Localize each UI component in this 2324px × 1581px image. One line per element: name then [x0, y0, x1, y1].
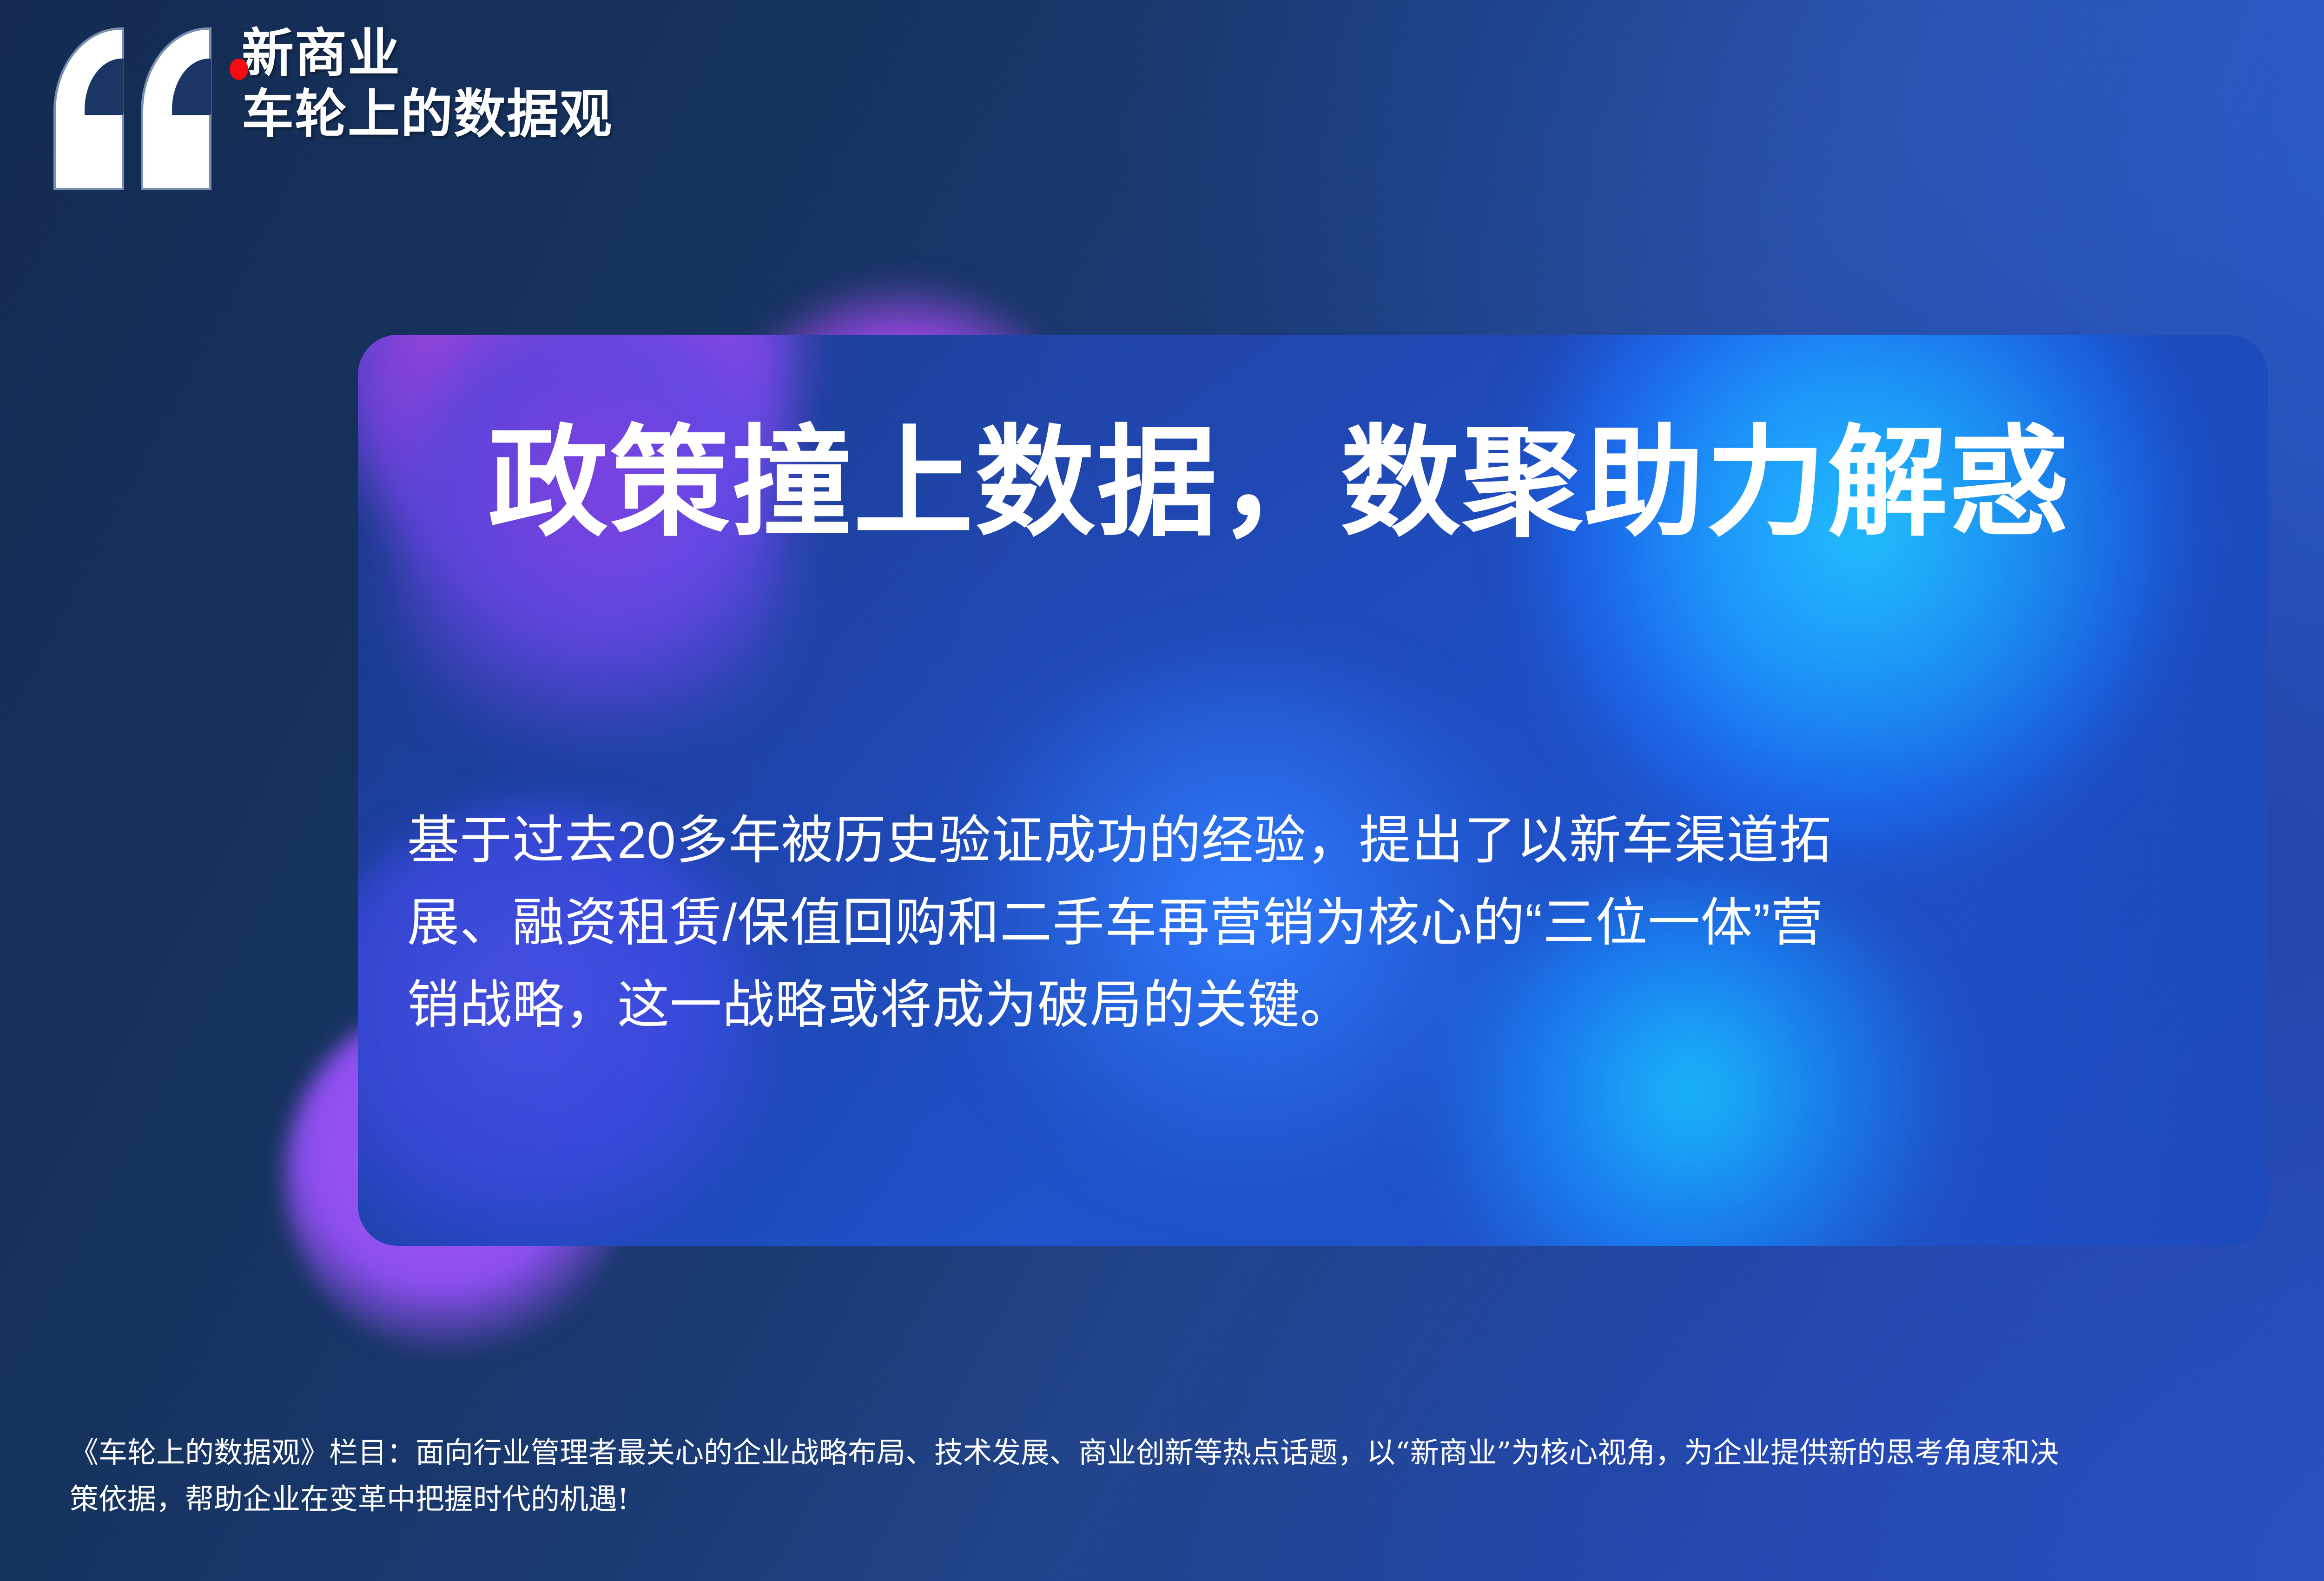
footer-line-1: 《车轮上的数据观》栏目：面向行业管理者最关心的企业战略布局、技术发展、商业创新等… [70, 1429, 2324, 1476]
brand-text: 新商业 车轮上的数据观 [242, 24, 613, 147]
column-title: 车轮上的数据观 [242, 82, 613, 147]
red-dot-icon [230, 59, 248, 80]
brand-logo: 新商业 车轮上的数据观 [56, 21, 613, 188]
brand-name-label: 新商业 [242, 24, 401, 82]
paragraph-line: 销战略，这一战略或将成为破局的关键。 [407, 964, 2238, 1046]
footer-line-2: 策依据，帮助企业在变革中把握时代的机遇! [70, 1476, 2324, 1522]
card-paragraph: 基于过去20多年被历史验证成功的经验，提出了以新车渠道拓 展、融资租赁/保值回购… [407, 800, 2238, 1046]
brand-name: 新商业 [242, 24, 613, 82]
open-quote-icon [56, 30, 209, 188]
footer-note: 《车轮上的数据观》栏目：面向行业管理者最关心的企业战略布局、技术发展、商业创新等… [70, 1429, 2324, 1523]
paragraph-line: 基于过去20多年被历史验证成功的经验，提出了以新车渠道拓 [407, 800, 2238, 882]
page-title: 政策撞上数据，数聚助力解惑 [488, 423, 2071, 543]
paragraph-line: 展、融资租赁/保值回购和二手车再营销为核心的“三位一体”营 [407, 882, 2238, 964]
quote-card: 政策撞上数据，数聚助力解惑 基于过去20多年被历史验证成功的经验，提出了以新车渠… [358, 335, 2268, 1246]
